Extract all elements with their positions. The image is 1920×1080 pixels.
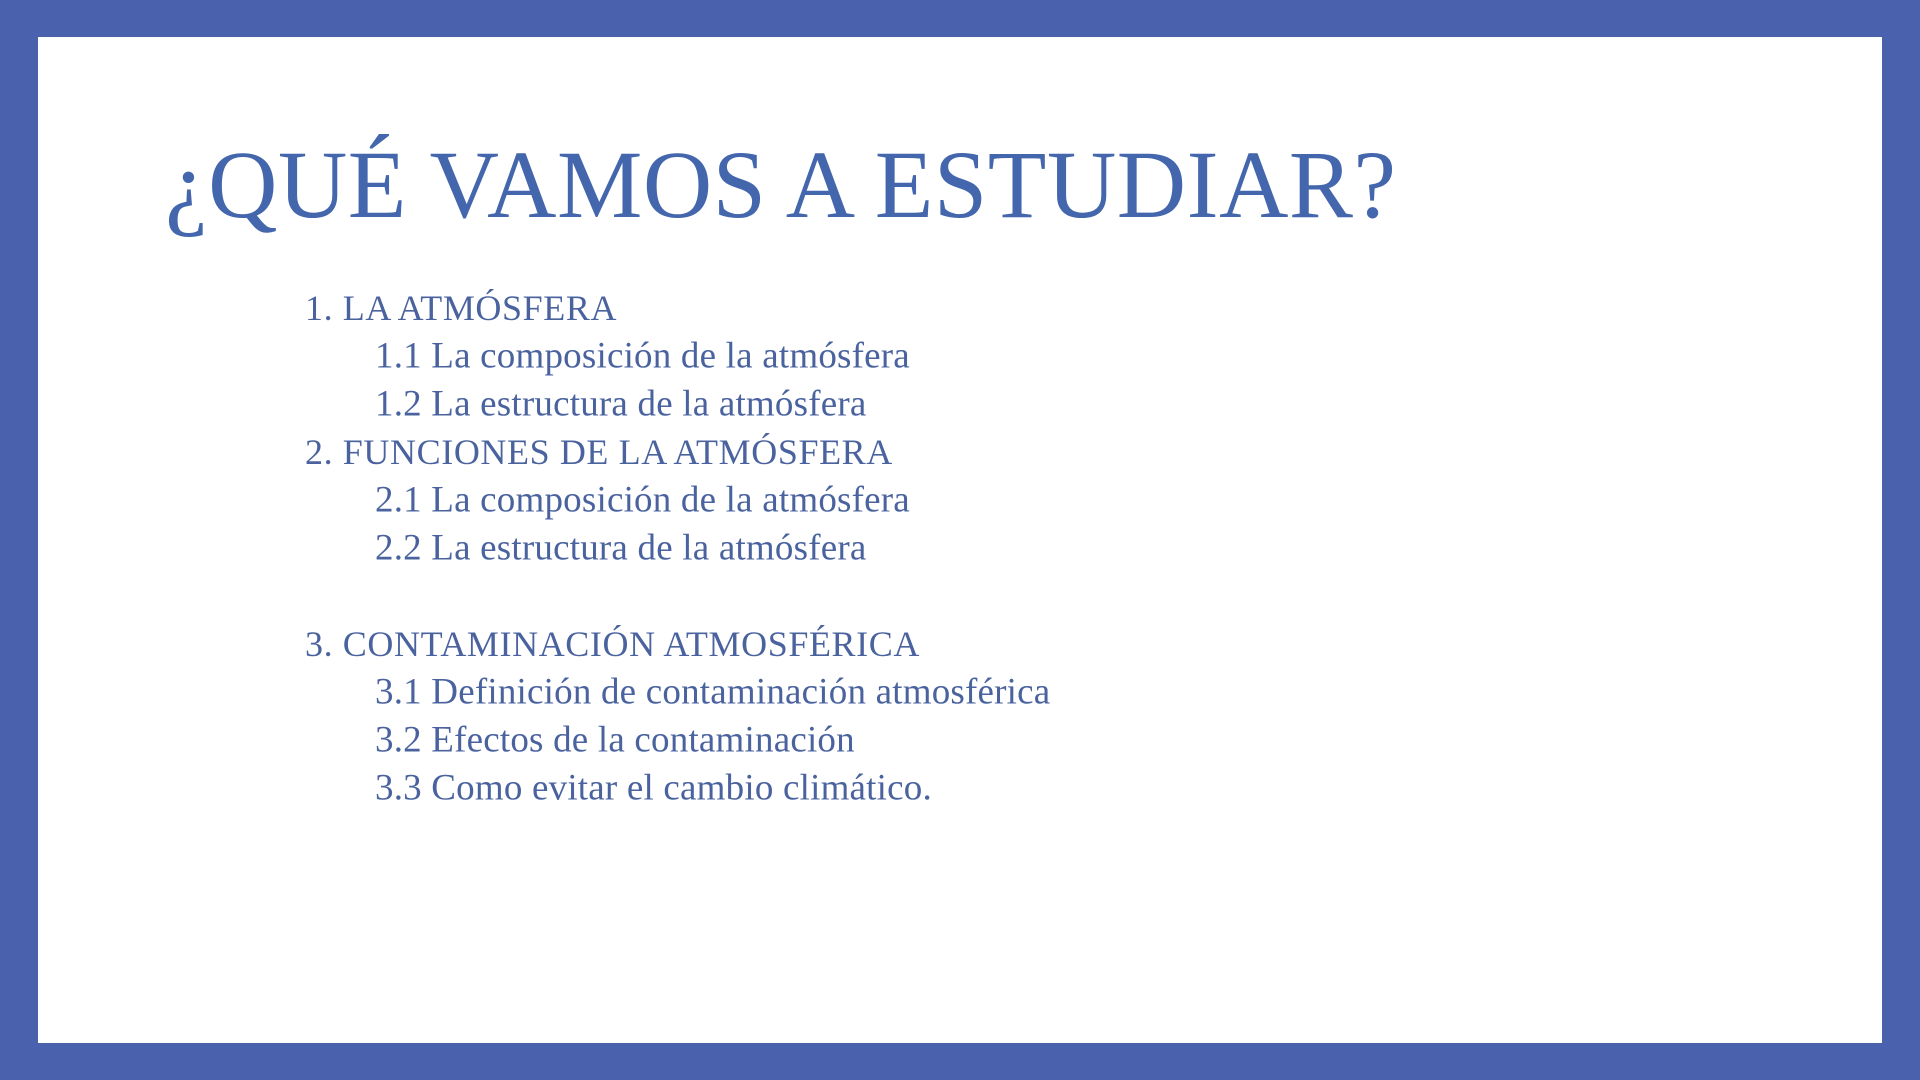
toc-section-label: 3. CONTAMINACIÓN ATMOSFÉRICA bbox=[305, 623, 920, 665]
toc-section-label: 2. FUNCIONES DE LA ATMÓSFERA bbox=[305, 431, 893, 473]
page-title: ¿QUÉ VAMOS A ESTUDIAR? bbox=[165, 137, 1815, 233]
toc-subsection-row[interactable]: 3.1 Definición de contaminación atmosfér… bbox=[38, 668, 1882, 716]
presentation-slide: ¿QUÉ VAMOS A ESTUDIAR? 1. LA ATMÓSFERA1.… bbox=[0, 0, 1920, 1080]
toc-subsection-row[interactable]: 2.1 La composición de la atmósfera bbox=[38, 476, 1882, 524]
toc-subsection-row[interactable]: 3.2 Efectos de la contaminación bbox=[38, 716, 1882, 764]
toc-subsection-row[interactable]: 3.3 Como evitar el cambio climático. bbox=[38, 764, 1882, 812]
table-of-contents: 1. LA ATMÓSFERA1.1 La composición de la … bbox=[38, 284, 1882, 812]
toc-subsection-label: 3.3 Como evitar el cambio climático. bbox=[375, 767, 932, 810]
toc-subsection-label: 1.2 La estructura de la atmósfera bbox=[375, 383, 866, 426]
toc-subsection-row[interactable]: 2.2 La estructura de la atmósfera bbox=[38, 524, 1882, 572]
toc-subsection-label: 3.2 Efectos de la contaminación bbox=[375, 719, 855, 762]
toc-section-label: 1. LA ATMÓSFERA bbox=[305, 287, 617, 329]
toc-subsection-label: 2.2 La estructura de la atmósfera bbox=[375, 527, 866, 570]
toc-section-row[interactable]: 1. LA ATMÓSFERA bbox=[38, 284, 1882, 332]
toc-spacer bbox=[38, 572, 1882, 620]
toc-subsection-row[interactable]: 1.1 La composición de la atmósfera bbox=[38, 332, 1882, 380]
toc-subsection-label: 3.1 Definición de contaminación atmosfér… bbox=[375, 671, 1050, 714]
toc-subsection-label: 1.1 La composición de la atmósfera bbox=[375, 335, 910, 378]
toc-section-row[interactable]: 3. CONTAMINACIÓN ATMOSFÉRICA bbox=[38, 620, 1882, 668]
slide-content-area: ¿QUÉ VAMOS A ESTUDIAR? 1. LA ATMÓSFERA1.… bbox=[38, 37, 1882, 1043]
toc-subsection-row[interactable]: 1.2 La estructura de la atmósfera bbox=[38, 380, 1882, 428]
toc-section-row[interactable]: 2. FUNCIONES DE LA ATMÓSFERA bbox=[38, 428, 1882, 476]
toc-subsection-label: 2.1 La composición de la atmósfera bbox=[375, 479, 910, 522]
